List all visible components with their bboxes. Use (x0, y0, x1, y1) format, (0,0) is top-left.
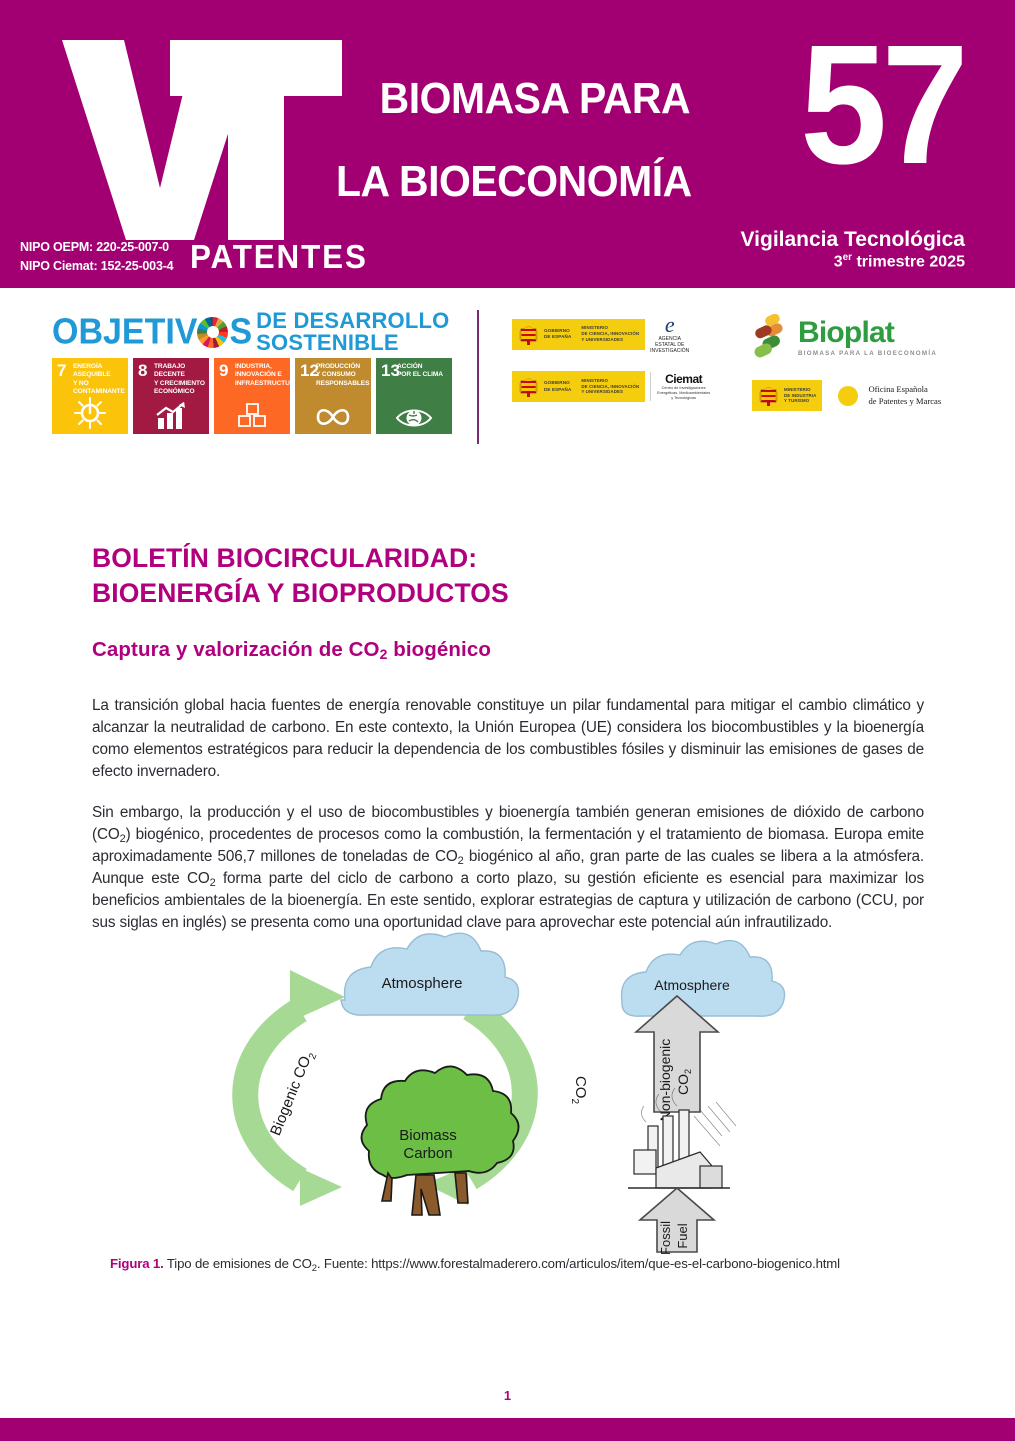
svg-text:Fossil: Fossil (658, 1221, 673, 1255)
masthead-title: BIOMASA PARA LA BIOECONOMÍA (336, 36, 692, 287)
gobierno-espana-badge-1: GOBIERNO DE ESPAÑA MINISTERIO DE CIENCIA… (512, 319, 645, 350)
ods-wordmark-objetiv: OBJETIV (52, 312, 197, 353)
masthead-line-2: LA BIOECONOMÍA (336, 161, 692, 203)
ciemat-name: Ciemat (657, 372, 710, 386)
ods-goal-number: 8 (138, 362, 147, 379)
ods-goal-12[interactable]: 12 PRODUCCIÓN Y CONSUMO RESPONSABLES (295, 358, 371, 434)
ministry-industry-label: MINISTERIO DE INDUSTRIA Y TURISMO (784, 387, 816, 405)
article-paragraphs: La transición global hacia fuentes de en… (92, 695, 924, 934)
svg-text:Carbon: Carbon (403, 1145, 452, 1162)
ods-goal-number: 9 (219, 362, 228, 379)
page-number: 1 (0, 1388, 1015, 1403)
gobierno-espana-label-2: GOBIERNO DE ESPAÑA (544, 380, 571, 392)
svg-text:CO2: CO2 (569, 1076, 589, 1105)
issue-meta: Vigilancia Tecnológica 3er trimestre 202… (741, 228, 965, 272)
patentes-label: PATENTES (190, 238, 368, 276)
biomass-tree: Biomass Carbon (361, 1066, 518, 1215)
sdg-color-wheel-icon (197, 317, 228, 348)
ministry-science-label-1: MINISTERIO DE CIENCIA, INNOVACIÓN Y UNIV… (581, 325, 639, 343)
figure-caption: Figura 1. Tipo de emisiones de CO2. Fuen… (110, 1256, 930, 1271)
nipo-ciemat: NIPO Ciemat: 152-25-003-4 (20, 257, 173, 276)
infinity-icon (295, 400, 371, 430)
bioplat-logo[interactable]: Bioplat BIOMASA PARA LA BIOECONOMÍA (752, 314, 972, 360)
spain-coat-of-arms-icon (518, 374, 539, 399)
svg-text:Non-biogenic: Non-biogenic (657, 1039, 673, 1122)
oepm-row: MINISTERIO DE INDUSTRIA Y TURISMO Oficin… (752, 380, 972, 411)
ods-line-1: DE DESARROLLO (256, 310, 449, 332)
article-subtitle: Captura y valorización de CO2 biogénico (92, 638, 922, 662)
atmosphere-cloud-left: Atmosphere (341, 933, 519, 1015)
aei-e-glyph: e (650, 314, 689, 336)
logo-strip-divider (477, 310, 479, 444)
svg-text:Atmosphere: Atmosphere (382, 975, 463, 992)
footer-bar (0, 1418, 1015, 1441)
gobierno-espana-label-1: GOBIERNO DE ESPAÑA (544, 328, 571, 340)
masthead-line-1: BIOMASA PARA (380, 74, 690, 123)
fossil-fuel-arrow: Fossil Fuel (640, 1188, 714, 1255)
climate-eye-icon (376, 400, 452, 430)
svg-text:Biogenic CO2: Biogenic CO2 (267, 1048, 319, 1139)
ods-wordmark-s: S (229, 312, 252, 353)
article-body: BOLETÍN BIOCIRCULARIDAD: BIOENERGÍA Y BI… (0, 503, 1015, 954)
svg-text:Biomass: Biomass (399, 1127, 457, 1144)
oepm-mark-icon (828, 381, 862, 411)
ciemat-subtitle: Centro de Investigaciones Energéticas, M… (657, 386, 710, 401)
series-label: Vigilancia Tecnológica (741, 228, 965, 252)
spain-coat-of-arms-icon (518, 322, 539, 347)
bioplat-name: Bioplat (798, 318, 937, 348)
masthead-header: BIOMASA PARA LA BIOECONOMÍA NIPO OEPM: 2… (0, 0, 1015, 288)
ods-wordmark-right: DE DESARROLLO SOSTENIBLE (256, 310, 449, 354)
ods-goal-label: TRABAJO DECENTE Y CRECIMIENTO ECONÓMICO (154, 363, 206, 397)
ods-logo-block: OBJETIV S DE DESARROLLO SOSTENIBLE 7 ENE… (52, 314, 462, 434)
figure-label: Figura 1. (110, 1256, 164, 1271)
nipo-oepm: NIPO OEPM: 220-25-007-0 (20, 238, 173, 257)
page-title: BOLETÍN BIOCIRCULARIDAD: BIOENERGÍA Y BI… (92, 541, 922, 611)
ods-goal-7[interactable]: 7 ENERGÍA ASEQUIBLE Y NO CONTAMINANTE (52, 358, 128, 434)
bioplat-mark-icon (752, 314, 792, 360)
ods-goal-tiles: 7 ENERGÍA ASEQUIBLE Y NO CONTAMINANTE (52, 358, 462, 434)
svg-text:Atmosphere: Atmosphere (654, 977, 730, 993)
ods-goal-13[interactable]: 13 ACCIÓN POR EL CLIMA (376, 358, 452, 434)
issue-quarter: 3er trimestre 2025 (741, 252, 965, 272)
ministry-science-label-2: MINISTERIO DE CIENCIA, INNOVACIÓN Y UNIV… (581, 378, 639, 396)
ods-wordmark: OBJETIV S DE DESARROLLO SOSTENIBLE (52, 314, 462, 350)
paragraph-1: La transición global hacia fuentes de en… (92, 695, 924, 782)
atmosphere-cloud-right: Atmosphere (622, 941, 785, 1017)
partner-logos: Bioplat BIOMASA PARA LA BIOECONOMÍA MINI… (752, 314, 972, 411)
vt-logo (52, 18, 352, 248)
ods-goal-8[interactable]: 8 TRABAJO DECENTE Y CRECIMIENTO ECONÓMIC… (133, 358, 209, 434)
oepm-logo[interactable]: Oficina Española de Patentes y Marcas (828, 381, 941, 411)
ods-goal-number: 7 (57, 362, 66, 379)
ods-line-2: SOSTENIBLE (256, 332, 449, 354)
issue-number: 57 (800, 20, 963, 190)
gobierno-espana-badge-2: GOBIERNO DE ESPAÑA MINISTERIO DE CIENCIA… (512, 371, 645, 402)
cubes-icon (214, 400, 290, 430)
growth-chart-icon (133, 400, 209, 430)
gobierno-industria-badge: MINISTERIO DE INDUSTRIA Y TURISMO (752, 380, 822, 411)
aei-logo: e AGENCIA ESTATAL DE INVESTIGACIÓN (650, 314, 689, 354)
sun-power-icon (52, 396, 128, 430)
oepm-label: Oficina Española de Patentes y Marcas (868, 384, 941, 407)
ods-goal-label: ENERGÍA ASEQUIBLE Y NO CONTAMINANTE (73, 363, 125, 397)
spain-coat-of-arms-icon (758, 383, 779, 408)
svg-text:Fuel: Fuel (675, 1223, 690, 1248)
ods-goal-9[interactable]: 9 INDUSTRIA, INNOVACIÓN E INFRAESTRUCTUR… (214, 358, 290, 434)
article-title-block: BOLETÍN BIOCIRCULARIDAD: BIOENERGÍA Y BI… (92, 541, 922, 662)
ods-goal-label: ACCIÓN POR EL CLIMA (397, 363, 449, 380)
ods-goal-label: INDUSTRIA, INNOVACIÓN E INFRAESTRUCTURA (235, 363, 287, 388)
aei-label: AGENCIA ESTATAL DE INVESTIGACIÓN (650, 336, 689, 354)
ciemat-logo: Ciemat Centro de Investigaciones Energét… (650, 372, 710, 401)
paragraph-2: Sin embargo, la producción y el uso de b… (92, 802, 924, 933)
ods-goal-label: PRODUCCIÓN Y CONSUMO RESPONSABLES (316, 363, 368, 388)
bioplat-tagline: BIOMASA PARA LA BIOECONOMÍA (798, 350, 937, 357)
nipo-codes: NIPO OEPM: 220-25-007-0 NIPO Ciemat: 152… (20, 238, 173, 277)
logo-strip: OBJETIV S DE DESARROLLO SOSTENIBLE 7 ENE… (0, 288, 1015, 503)
